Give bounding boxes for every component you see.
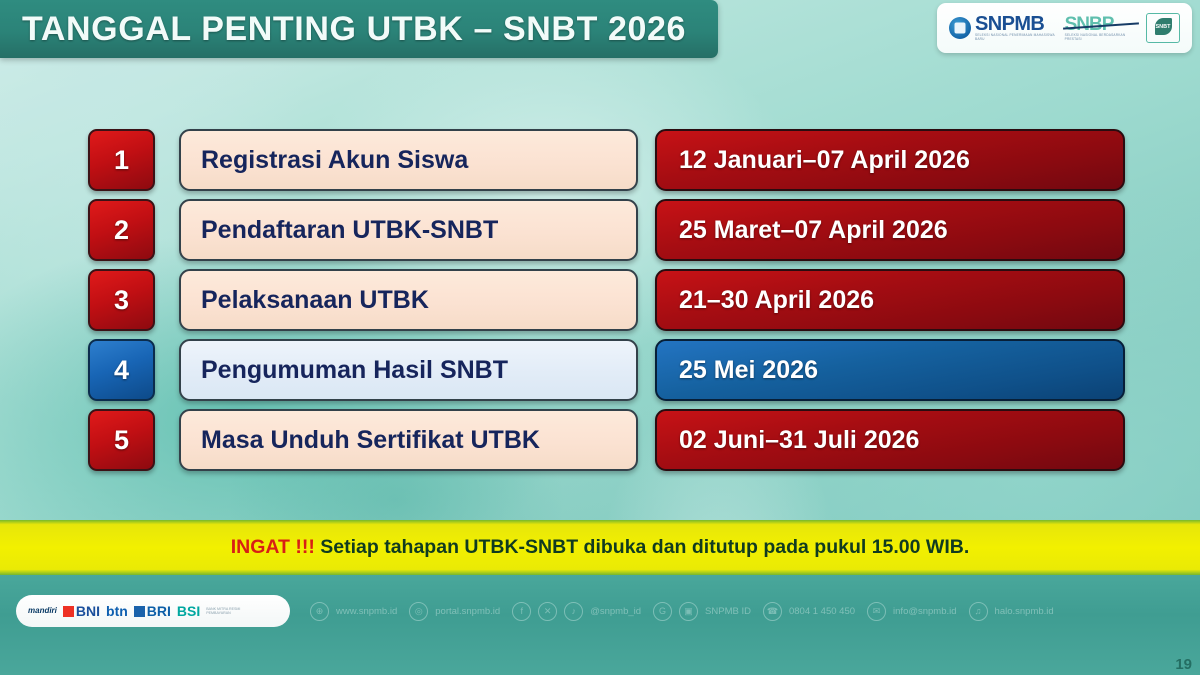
contact-phone: 0804 1 450 450 xyxy=(789,606,855,617)
row-number-badge: 5 xyxy=(88,409,155,471)
slide-footer: mandiri BNI btn BRI BSI BANK MITRA RESMI… xyxy=(0,575,1200,675)
snbp-wordmark: SNBP xyxy=(1065,15,1137,34)
row-date-value: 25 Mei 2026 xyxy=(655,339,1125,401)
row-date-value: 25 Maret–07 April 2026 xyxy=(655,199,1125,261)
contact-email: info@snpmb.id xyxy=(893,606,957,617)
table-row: 2 Pendaftaran UTBK-SNBT 25 Maret–07 Apri… xyxy=(0,195,1200,265)
facebook-icon: f xyxy=(512,602,531,621)
snpmb-logo-strip: SNPMB SELEKSI NASIONAL PENERIMAAN MAHASI… xyxy=(937,3,1192,53)
row-number-badge: 3 xyxy=(88,269,155,331)
globe-icon: ⊕ xyxy=(310,602,329,621)
contact-social-handle: @snpmb_id xyxy=(590,606,641,617)
slide-title-bar: TANGGAL PENTING UTBK – SNBT 2026 xyxy=(0,0,718,58)
google-icon: G xyxy=(653,602,672,621)
notice-text: INGAT !!! Setiap tahapan UTBK-SNBT dibuk… xyxy=(231,536,970,559)
snbp-logo: SNBP SELEKSI NASIONAL BERDASARKAN PRESTA… xyxy=(1065,15,1137,42)
row-stage-label: Pelaksanaan UTBK xyxy=(179,269,638,331)
contact-instagram-handle: SNPMB ID xyxy=(705,606,751,617)
bank-logo-bri: BRI xyxy=(134,604,171,618)
snpmb-subtitle: SELEKSI NASIONAL PENERIMAAN MAHASISWA BA… xyxy=(975,34,1056,42)
notice-banner: INGAT !!! Setiap tahapan UTBK-SNBT dibuk… xyxy=(0,520,1200,575)
schedule-table: 1 Registrasi Akun Siswa 12 Januari–07 Ap… xyxy=(0,125,1200,475)
table-row: 3 Pelaksanaan UTBK 21–30 April 2026 xyxy=(0,265,1200,335)
contact-portal: portal.snpmb.id xyxy=(435,606,500,617)
bank-logo-mandiri: mandiri xyxy=(28,607,57,615)
contact-helpdesk: halo.snpmb.id xyxy=(995,606,1054,617)
phone-icon: ☎ xyxy=(763,602,782,621)
bank-logo-bsi: BSI xyxy=(177,604,200,618)
notice-body: Setiap tahapan UTBK-SNBT dibuka dan ditu… xyxy=(315,536,969,558)
snpmb-wordmark: SNPMB xyxy=(975,14,1056,34)
table-row: 5 Masa Unduh Sertifikat UTBK 02 Juni–31 … xyxy=(0,405,1200,475)
snpmb-seal-icon xyxy=(949,17,971,39)
row-number-badge: 4 xyxy=(88,339,155,401)
snbt-leaf-icon: SNBT xyxy=(1146,13,1180,43)
mail-icon: ✉ xyxy=(867,602,886,621)
row-stage-label: Pengumuman Hasil SNBT xyxy=(179,339,638,401)
table-row: 1 Registrasi Akun Siswa 12 Januari–07 Ap… xyxy=(0,125,1200,195)
bri-mark-icon xyxy=(134,606,145,617)
notice-emphasis: INGAT !!! xyxy=(231,536,315,558)
bni-mark-icon xyxy=(63,606,74,617)
row-date-value: 02 Juni–31 Juli 2026 xyxy=(655,409,1125,471)
row-stage-label: Pendaftaran UTBK-SNBT xyxy=(179,199,638,261)
x-twitter-icon: ✕ xyxy=(538,602,557,621)
row-stage-label: Masa Unduh Sertifikat UTBK xyxy=(179,409,638,471)
bank-tagline: BANK MITRA RESMI PEMBAYARAN xyxy=(206,607,250,615)
portal-icon: ◎ xyxy=(409,602,428,621)
contact-strip: ⊕ www.snpmb.id ◎ portal.snpmb.id f ✕ ♪ @… xyxy=(310,595,1184,627)
row-number-badge: 1 xyxy=(88,129,155,191)
row-date-value: 12 Januari–07 April 2026 xyxy=(655,129,1125,191)
page-title: TANGGAL PENTING UTBK – SNBT 2026 xyxy=(0,10,686,49)
row-stage-label: Registrasi Akun Siswa xyxy=(179,129,638,191)
table-row: 4 Pengumuman Hasil SNBT 25 Mei 2026 xyxy=(0,335,1200,405)
bank-logo-bni: BNI xyxy=(63,604,100,618)
row-number-badge: 2 xyxy=(88,199,155,261)
instagram-icon: ▣ xyxy=(679,602,698,621)
headset-icon: ♫ xyxy=(969,602,988,621)
snpmb-logo: SNPMB SELEKSI NASIONAL PENERIMAAN MAHASI… xyxy=(949,14,1056,42)
snbt-wordmark: SNBT xyxy=(1156,24,1171,30)
bank-logo-btn: btn xyxy=(106,604,128,618)
page-number: 19 xyxy=(1175,656,1192,673)
contact-website: www.snpmb.id xyxy=(336,606,397,617)
tiktok-icon: ♪ xyxy=(564,602,583,621)
snbp-subtitle: SELEKSI NASIONAL BERDASARKAN PRESTASI xyxy=(1065,34,1137,42)
row-date-value: 21–30 April 2026 xyxy=(655,269,1125,331)
bank-partners-strip: mandiri BNI btn BRI BSI BANK MITRA RESMI… xyxy=(16,595,290,627)
